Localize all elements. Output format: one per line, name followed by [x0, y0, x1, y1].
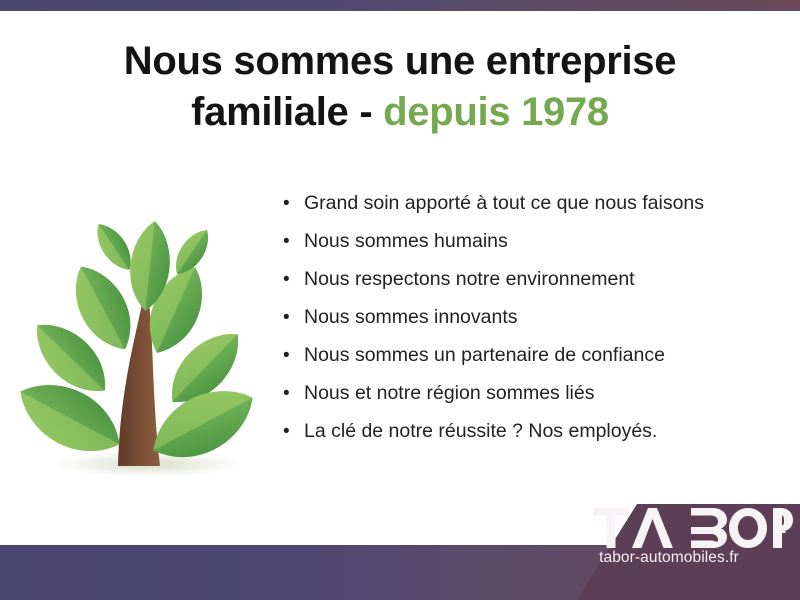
list-item: • Nous respectons notre environnement: [283, 268, 783, 290]
tree-illustration: [8, 182, 280, 494]
list-item-label: Nous et notre région sommes liés: [304, 382, 594, 404]
page-title: Nous sommes une entreprise familiale - d…: [40, 36, 760, 138]
bullet-marker-icon: •: [283, 422, 304, 441]
headline-line-2-black: familiale -: [191, 90, 383, 134]
headline-line-2-accent: depuis 1978: [383, 90, 609, 134]
headline-line-1: Nous sommes une entreprise: [124, 39, 676, 83]
list-item: • Nous sommes un partenaire de confiance: [283, 344, 783, 366]
bullet-marker-icon: •: [283, 194, 304, 213]
list-item: • Nous et notre région sommes liés: [283, 382, 783, 404]
bullet-list: • Grand soin apporté à tout ce que nous …: [283, 192, 783, 457]
logo-wordmark-icon: [593, 508, 793, 548]
list-item-label: La clé de notre réussite ? Nos employés.: [304, 420, 657, 442]
list-item: • La clé de notre réussite ? Nos employé…: [283, 420, 783, 442]
list-item-label: Nous sommes un partenaire de confiance: [304, 344, 665, 366]
bullet-marker-icon: •: [283, 346, 304, 365]
top-accent-bar: [0, 0, 800, 11]
bullet-marker-icon: •: [283, 270, 304, 289]
logo-url-label: tabor-automobiles.fr: [545, 549, 793, 567]
bullet-marker-icon: •: [283, 232, 304, 251]
brand-logo: tabor-automobiles.fr: [545, 500, 800, 600]
bullet-marker-icon: •: [283, 308, 304, 327]
list-item-label: Nous respectons notre environnement: [304, 268, 635, 290]
slide-canvas: Nous sommes une entreprise familiale - d…: [0, 0, 800, 600]
list-item-label: Nous sommes humains: [304, 230, 508, 252]
list-item: • Grand soin apporté à tout ce que nous …: [283, 192, 783, 214]
list-item-label: Grand soin apporté à tout ce que nous fa…: [304, 192, 704, 214]
bullet-marker-icon: •: [283, 384, 304, 403]
list-item: • Nous sommes innovants: [283, 306, 783, 328]
list-item: • Nous sommes humains: [283, 230, 783, 252]
list-item-label: Nous sommes innovants: [304, 306, 518, 328]
